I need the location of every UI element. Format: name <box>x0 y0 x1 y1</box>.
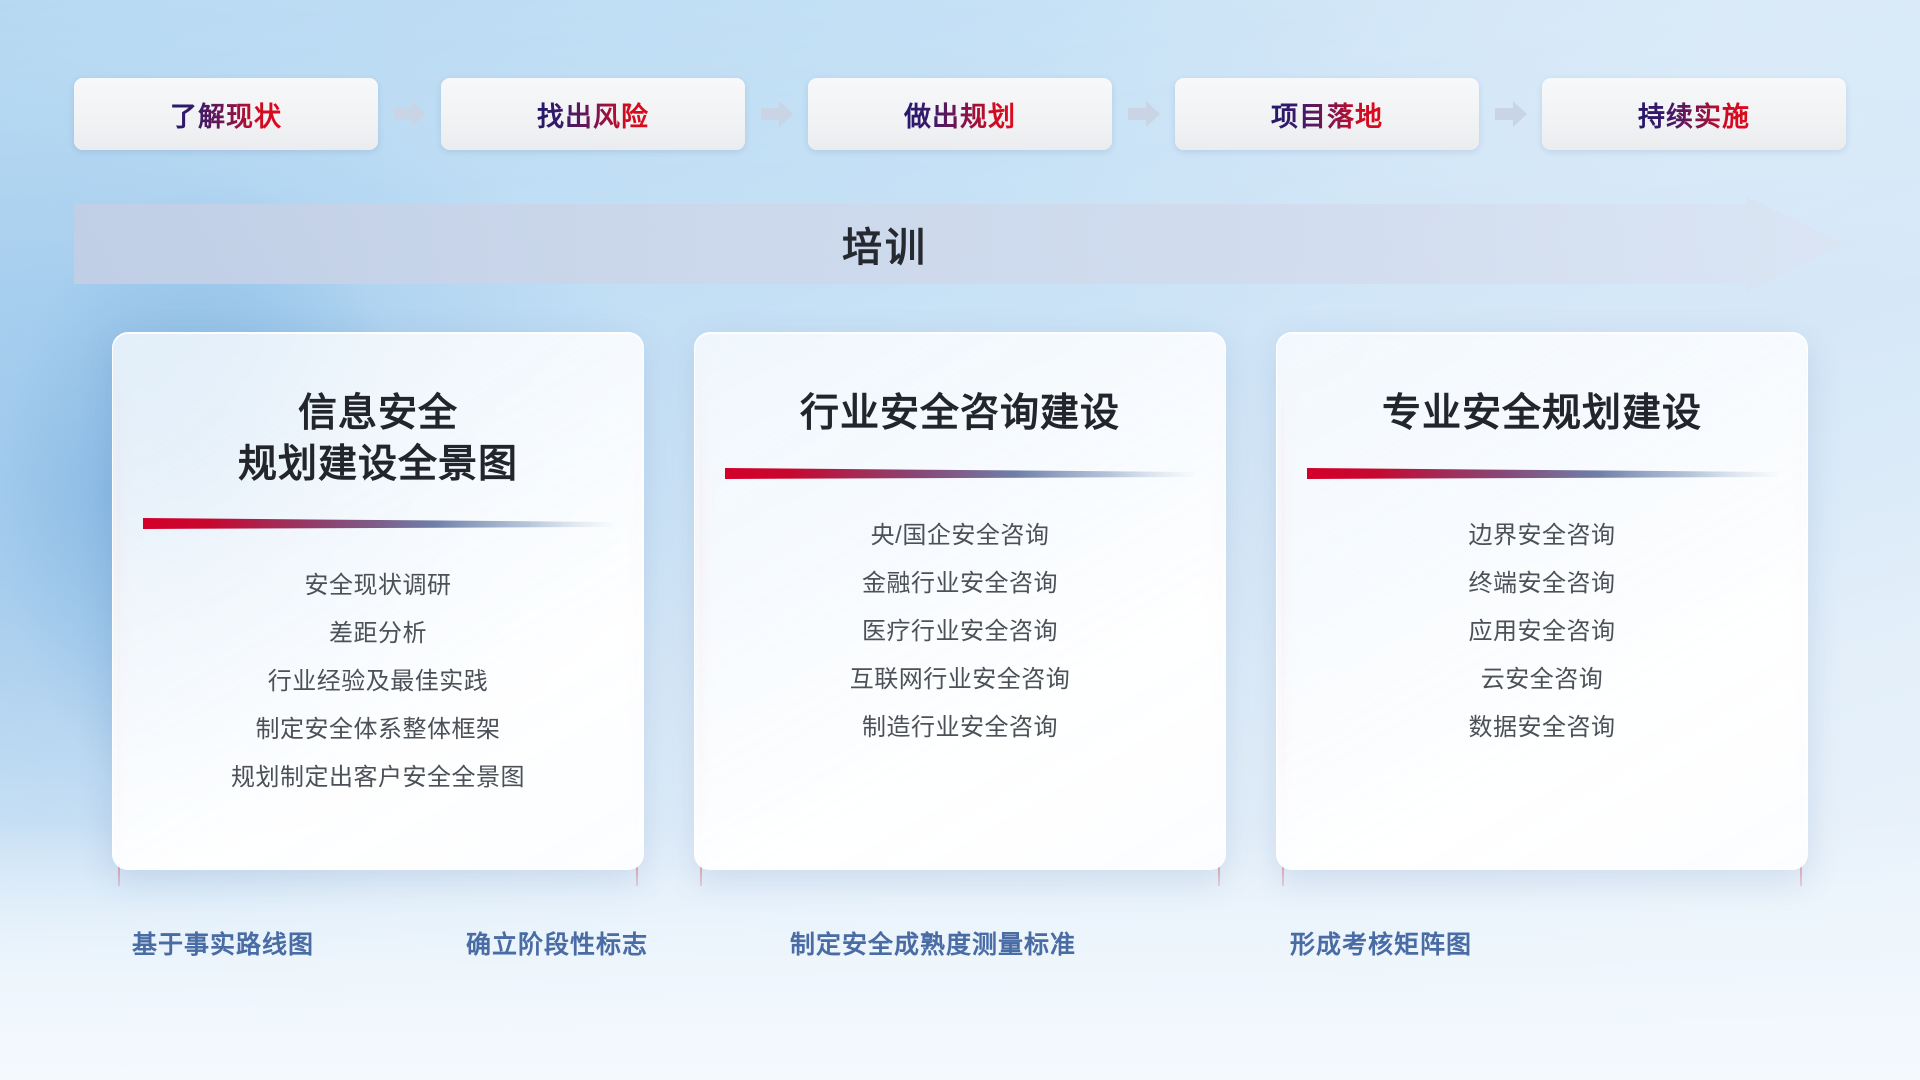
list-item: 差距分析 <box>329 616 427 652</box>
card-list: 边界安全咨询 终端安全咨询 应用安全咨询 云安全咨询 数据安全咨询 <box>1469 518 1616 746</box>
step-box-3[interactable]: 做出规划 <box>808 78 1112 150</box>
step-label: 持续实施 <box>1638 95 1750 134</box>
step-box-5[interactable]: 持续实施 <box>1542 78 1846 150</box>
step-box-inner: 了解现状 <box>74 78 378 150</box>
card-list: 安全现状调研 差距分析 行业经验及最佳实践 制定安全体系整体框架 规划制定出客户… <box>231 568 525 796</box>
list-item: 金融行业安全咨询 <box>862 566 1058 602</box>
caption-row: 基于事实路线图 确立阶段性标志 制定安全成熟度测量标准 形成考核矩阵图 <box>0 925 1920 969</box>
card-group: 信息安全 规划建设全景图 <box>112 332 1808 870</box>
card-title: 行业安全咨询建设 <box>800 389 1120 440</box>
card-divider <box>725 466 1195 484</box>
list-item: 互联网行业安全咨询 <box>850 662 1071 698</box>
step-box-1[interactable]: 了解现状 <box>74 78 378 150</box>
list-item: 云安全咨询 <box>1481 662 1604 698</box>
list-item: 制造行业安全咨询 <box>862 710 1058 746</box>
step-label: 项目落地 <box>1271 95 1383 134</box>
list-item: 制定安全体系整体框架 <box>256 712 501 748</box>
caption-matrix: 形成考核矩阵图 <box>1290 925 1472 961</box>
card-divider <box>143 516 613 534</box>
card-title: 信息安全 规划建设全景图 <box>238 389 518 490</box>
caption-roadmap: 基于事实路线图 <box>132 925 314 961</box>
arrow-right-icon <box>392 99 428 129</box>
list-item: 央/国企安全咨询 <box>871 518 1050 554</box>
card-list: 央/国企安全咨询 金融行业安全咨询 医疗行业安全咨询 互联网行业安全咨询 制造行… <box>850 518 1071 746</box>
list-item: 终端安全咨询 <box>1469 566 1616 602</box>
step-box-inner: 项目落地 <box>1175 78 1479 150</box>
list-item: 规划制定出客户安全全景图 <box>231 760 525 796</box>
step-box-inner: 持续实施 <box>1542 78 1846 150</box>
list-item: 行业经验及最佳实践 <box>268 664 489 700</box>
training-banner: 培训 <box>74 196 1846 292</box>
banner-label: 培训 <box>74 196 1696 292</box>
card-information-security[interactable]: 信息安全 规划建设全景图 <box>112 332 644 870</box>
step-box-inner: 做出规划 <box>808 78 1112 150</box>
step-label: 了解现状 <box>170 95 282 134</box>
list-item: 边界安全咨询 <box>1469 518 1616 554</box>
arrow-right-icon <box>759 99 795 129</box>
step-label: 做出规划 <box>904 95 1016 134</box>
card-wrapper-3: 专业安全规划建设 <box>1276 332 1808 870</box>
caption-milestones: 确立阶段性标志 <box>466 925 648 961</box>
list-item: 医疗行业安全咨询 <box>862 614 1058 650</box>
card-title: 专业安全规划建设 <box>1382 389 1702 440</box>
arrow-right-icon <box>1493 99 1529 129</box>
card-wrapper-1: 信息安全 规划建设全景图 <box>112 332 644 870</box>
card-professional-security-planning[interactable]: 专业安全规划建设 <box>1276 332 1808 870</box>
card-industry-security-consulting[interactable]: 行业安全咨询建设 <box>694 332 1226 870</box>
list-item: 应用安全咨询 <box>1469 614 1616 650</box>
step-box-inner: 找出风险 <box>441 78 745 150</box>
list-item: 数据安全咨询 <box>1469 710 1616 746</box>
arrow-right-icon <box>1126 99 1162 129</box>
caption-maturity: 制定安全成熟度测量标准 <box>790 925 1076 961</box>
process-step-flow: 了解现状 找出风险 做出规划 项目落地 <box>74 78 1846 150</box>
step-box-4[interactable]: 项目落地 <box>1175 78 1479 150</box>
card-divider <box>1307 466 1777 484</box>
step-box-2[interactable]: 找出风险 <box>441 78 745 150</box>
card-wrapper-2: 行业安全咨询建设 <box>694 332 1226 870</box>
step-label: 找出风险 <box>537 95 649 134</box>
list-item: 安全现状调研 <box>305 568 452 604</box>
